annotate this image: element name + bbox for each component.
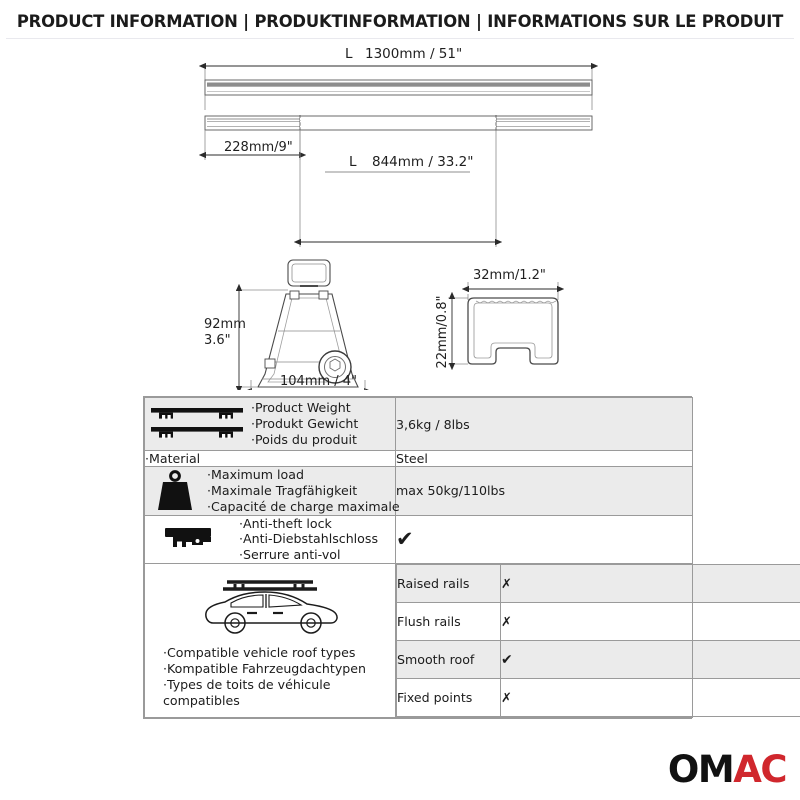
maximum-load-label-en: ·Maximum load [207,467,304,482]
dim-span-symbol: L [349,154,357,170]
page-title: PRODUCT INFORMATION | PRODUKTINFORMATION… [0,12,800,31]
compatibility-label-fr: ·Types de toits de véhicule compatibles [163,677,330,708]
product-weight-labels: ·Product Weight ·Produkt Gewicht ·Poids … [251,400,358,448]
table-row-maximum-load: ·Maximum load ·Maximale Tragfähigkeit ·C… [145,467,693,516]
material-label: ·Material [145,451,396,467]
material-value: Steel [396,451,693,467]
logo-text-ac: AC [733,748,786,791]
compatibility-labels: ·Compatible vehicle roof types ·Kompatib… [145,645,395,709]
specifications-table: ·Product Weight ·Produkt Gewicht ·Poids … [143,396,692,719]
cross-icon: ✗ [501,692,512,705]
roof-type-row-raised-rails: Raised rails ✗ [397,565,800,603]
weight-icon [145,468,205,514]
roof-type-mark-flush-rails: ✗ [501,603,800,641]
anti-theft-lock-label-cell: ·Anti-theft lock ·Anti-Diebstahlschloss … [145,515,396,564]
roof-type-name-raised-rails: Raised rails [397,565,501,603]
roof-type-name-smooth-roof: Smooth roof [397,641,501,679]
dim-profile-height-value: 22mm/0.8" [435,296,450,369]
compatibility-label-de: ·Kompatible Fahrzeugdachtypen [163,661,366,676]
dim-foot-height-line2: 3.6" [204,333,231,348]
cross-icon: ✗ [501,616,512,629]
anti-theft-lock-value: ✔ [396,515,693,564]
anti-theft-lock-labels: ·Anti-theft lock ·Anti-Diebstahlschloss … [239,516,378,564]
product-weight-label-fr: ·Poids du produit [251,432,357,447]
title-divider [6,38,794,39]
roof-type-name-fixed-points: Fixed points [397,679,501,717]
roof-type-mark-smooth-roof: ✔ [501,641,800,679]
roof-type-mark-raised-rails: ✗ [501,565,800,603]
product-weight-label-cell: ·Product Weight ·Produkt Gewicht ·Poids … [145,398,396,451]
roof-types-cell: Raised rails ✗ Flush rails ✗ [396,564,693,718]
omac-logo: OMAC [668,751,786,788]
maximum-load-value: max 50kg/110lbs [396,467,693,516]
maximum-load-labels: ·Maximum load ·Maximale Tragfähigkeit ·C… [207,467,400,515]
dim-foot-width-value: 104mm / 4" [280,374,357,389]
table-row-compatibility: ·Compatible vehicle roof types ·Kompatib… [145,564,693,718]
table-row-material: ·Material Steel [145,451,693,467]
dim-span-value: 844mm / 33.2" [372,154,473,170]
table-row-anti-theft-lock: ·Anti-theft lock ·Anti-Diebstahlschloss … [145,515,693,564]
lock-icon [145,522,237,556]
roof-type-row-fixed-points: Fixed points ✗ [397,679,800,717]
product-weight-value: 3,6kg / 8lbs [396,398,693,451]
product-weight-label-en: ·Product Weight [251,400,351,415]
anti-theft-lock-label-en: ·Anti-theft lock [239,516,332,531]
dim-foot-offset-value: 228mm/9" [224,140,293,155]
anti-theft-lock-label-de: ·Anti-Diebstahlschloss [239,531,378,546]
maximum-load-label-cell: ·Maximum load ·Maximale Tragfähigkeit ·C… [145,467,396,516]
roof-type-row-smooth-roof: Smooth roof ✔ [397,641,800,679]
cross-icon: ✗ [501,578,512,591]
table-row-product-weight: ·Product Weight ·Produkt Gewicht ·Poids … [145,398,693,451]
product-weight-label-de: ·Produkt Gewicht [251,416,358,431]
roof-type-row-flush-rails: Flush rails ✗ [397,603,800,641]
dim-profile-width-value: 32mm/1.2" [473,268,546,283]
roof-type-name-flush-rails: Flush rails [397,603,501,641]
check-icon: ✔ [501,653,513,667]
anti-theft-lock-label-fr: ·Serrure anti-vol [239,547,341,562]
dim-bar-length-symbol: L [345,46,353,62]
anti-theft-lock-check-icon: ✔ [396,529,414,550]
dim-foot-height-line1: 92mm [204,317,246,332]
maximum-load-label-de: ·Maximale Tragfähigkeit [207,483,357,498]
car-with-roof-rack-icon [145,573,395,641]
compatibility-label-en: ·Compatible vehicle roof types [163,645,355,660]
compatibility-label-cell: ·Compatible vehicle roof types ·Kompatib… [145,564,396,718]
crossbar-pair-icon [145,398,249,450]
dim-bar-length-value: 1300mm / 51" [365,46,462,62]
logo-text-om: OM [668,748,733,791]
roof-type-mark-fixed-points: ✗ [501,679,800,717]
technical-drawing: L 1300mm / 51" 228mm/9" L 844mm / 33.2" … [0,42,800,390]
maximum-load-label-fr: ·Capacité de charge maximale [207,499,400,514]
